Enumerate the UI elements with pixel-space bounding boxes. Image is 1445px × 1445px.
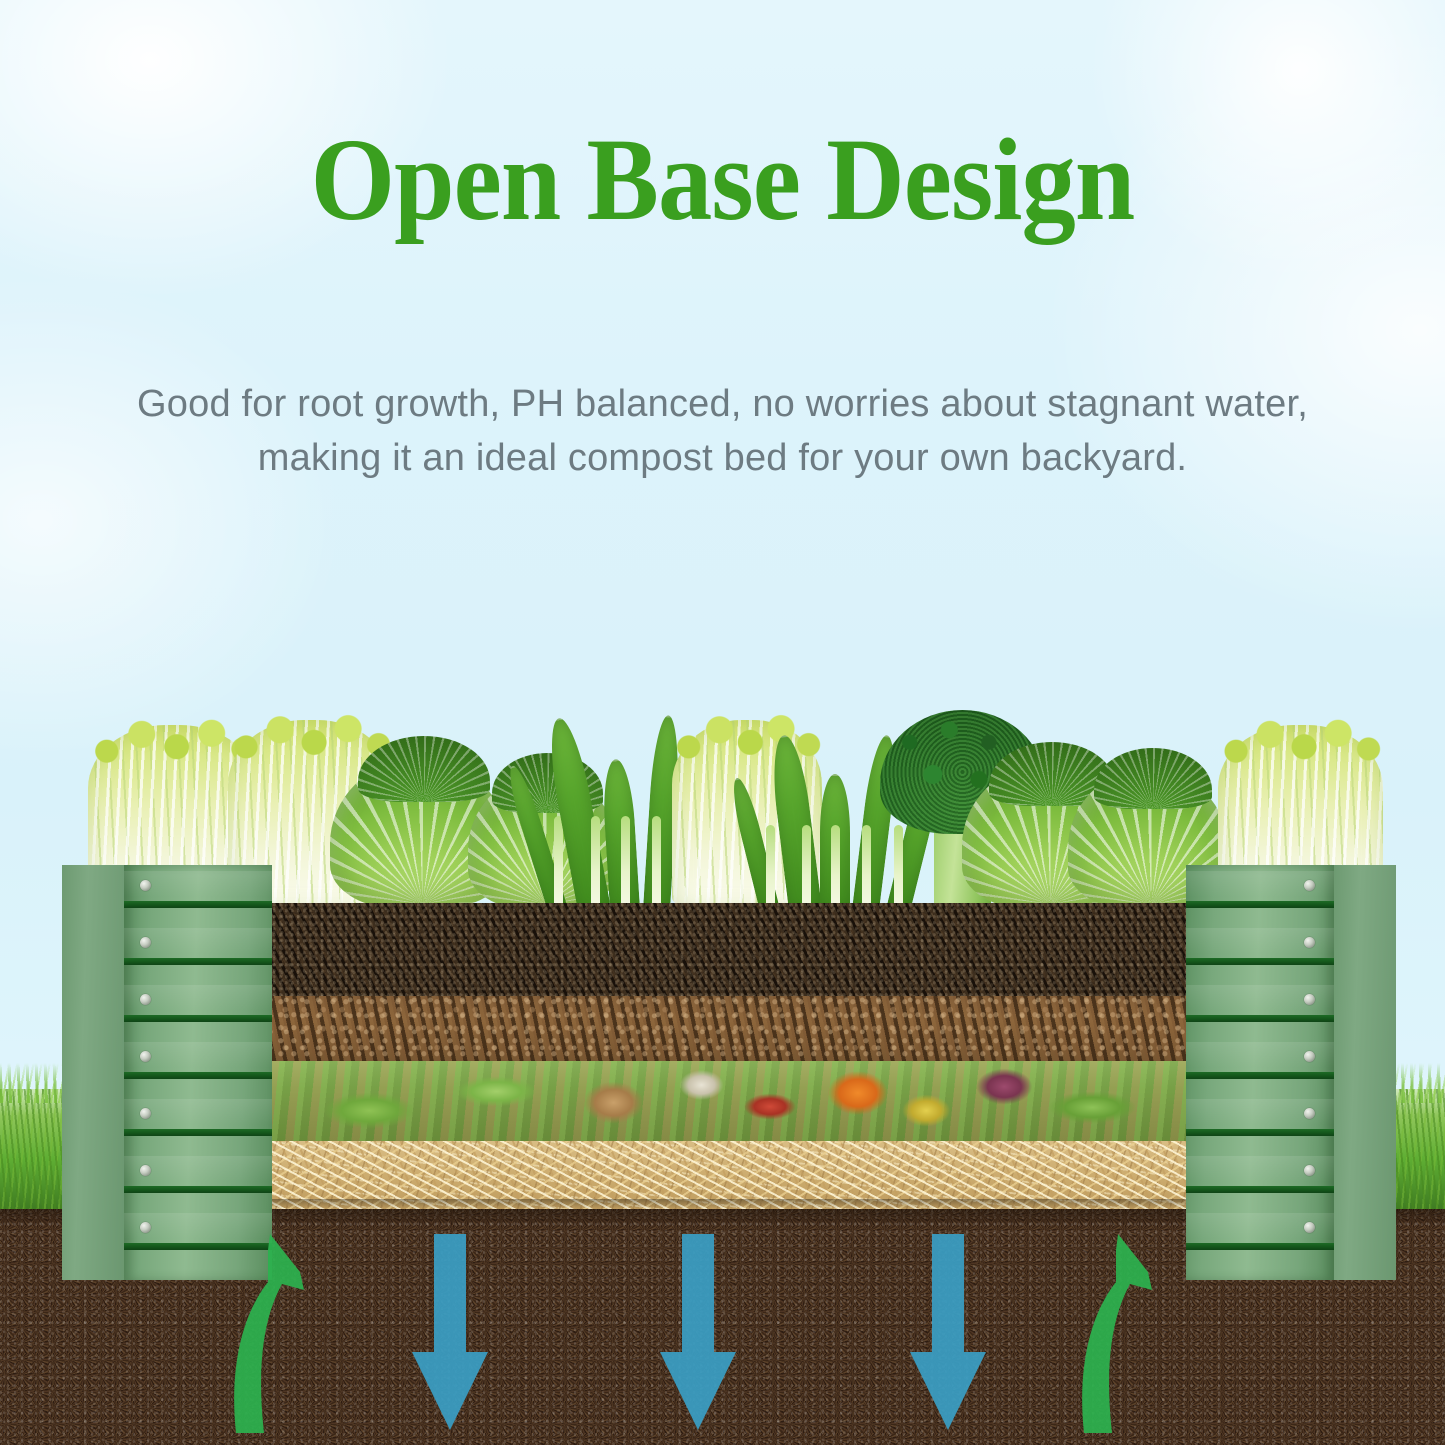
layer-topsoil [213, 903, 1190, 996]
left-post-slat [124, 1129, 272, 1136]
left-post-screw-icon [140, 937, 151, 948]
right-post-slat [1186, 958, 1334, 965]
cabbage-crown [1094, 748, 1212, 810]
right-post-screw-icon [1304, 937, 1315, 948]
right-post-screw-icon [1304, 1051, 1315, 1062]
page-subtitle-line-2: making it an ideal compost bed for your … [58, 432, 1388, 486]
vegetable-row [0, 590, 1445, 910]
page-subtitle: Good for root growth, PH balanced, no wo… [58, 378, 1388, 486]
left-post-slat [124, 1015, 272, 1022]
chard-stem [831, 825, 840, 910]
right-post-slat [1186, 1186, 1334, 1193]
promo-image-canvas: Open Base Design Good for root growth, P… [0, 0, 1445, 1445]
airflow-arrow-up-right [1072, 1228, 1168, 1433]
right-post-slat [1186, 1072, 1334, 1079]
left-post-slat [124, 1072, 272, 1079]
airflow-drainage-arrows [0, 1205, 1445, 1445]
right-post-screw-icon [1304, 1108, 1315, 1119]
page-title: Open Base Design [58, 118, 1387, 242]
right-post-screw-icon [1304, 994, 1315, 1005]
arrow-down-shape [412, 1234, 488, 1430]
arrow-down-shape [910, 1234, 986, 1430]
chard-stem [554, 816, 563, 910]
left-post-screw-icon [140, 994, 151, 1005]
layer-compost-bark [213, 996, 1190, 1061]
right-post-screw-icon [1304, 1165, 1315, 1176]
right-post-slat [1186, 1015, 1334, 1022]
drainage-arrow-down-2 [652, 1234, 748, 1439]
left-post-slat [124, 958, 272, 965]
chard-stem [591, 816, 600, 910]
drainage-arrow-down-3 [902, 1234, 998, 1439]
page-subtitle-line-1: Good for root growth, PH balanced, no wo… [58, 378, 1388, 432]
arrow-up-shape [234, 1234, 304, 1433]
right-post-screw-icon [1304, 880, 1315, 891]
chard-stem [802, 825, 811, 910]
chard-leaf [768, 733, 822, 912]
arrow-up-shape [1082, 1234, 1152, 1433]
left-post-slat [124, 1186, 272, 1193]
right-post-slat [1186, 901, 1334, 908]
chard-stem [862, 825, 871, 910]
drainage-arrow-down-1 [404, 1234, 500, 1439]
chard-stem [621, 816, 630, 910]
layer-kitchen-scraps [213, 1061, 1190, 1141]
airflow-arrow-up-left [224, 1228, 320, 1433]
arrow-down-shape [660, 1234, 736, 1430]
right-post-slat [1186, 1129, 1334, 1136]
chard-stem [766, 825, 775, 910]
left-post-screw-icon [140, 1051, 151, 1062]
left-post-screw-icon [140, 1165, 151, 1176]
left-post-slat [124, 901, 272, 908]
left-post-screw-icon [140, 1108, 151, 1119]
chard-stem [652, 816, 661, 910]
left-post-screw-icon [140, 880, 151, 891]
